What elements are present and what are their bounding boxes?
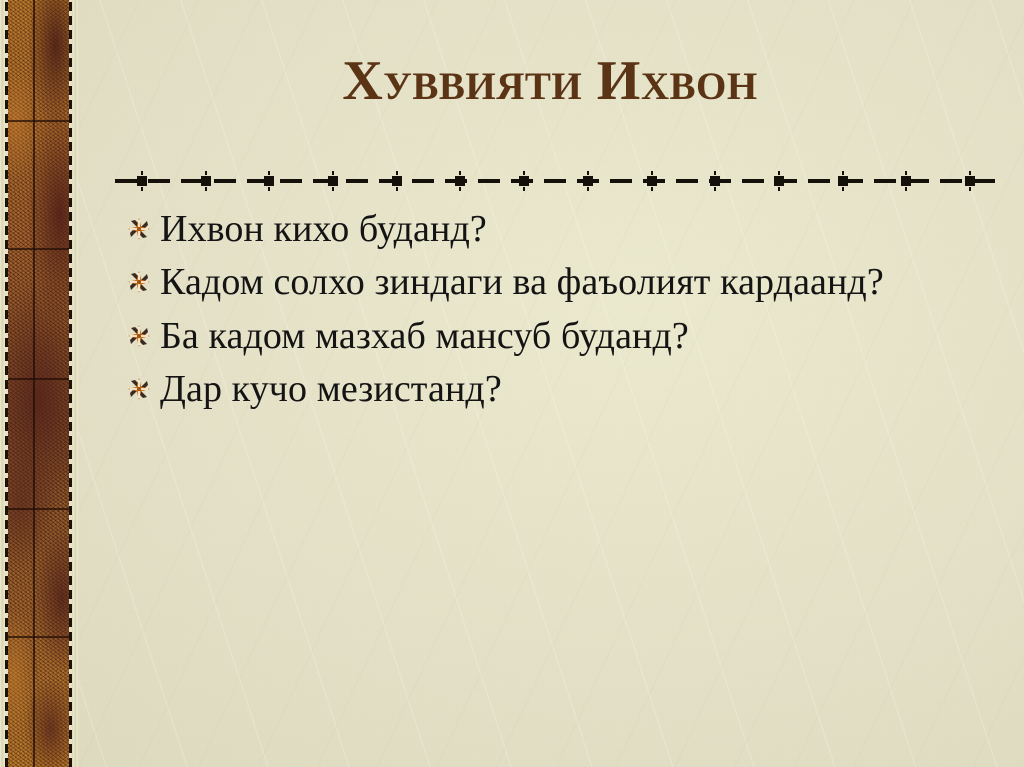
divider-bead <box>838 176 848 186</box>
bullet-text: Дар кучо мезистанд? <box>160 365 928 414</box>
band-grid-line-horizontal <box>8 120 69 122</box>
starburst-bullet-icon <box>128 218 150 240</box>
band-outer-edge-right <box>73 0 78 767</box>
divider-bead <box>264 176 274 186</box>
divider-bead <box>519 176 529 186</box>
divider-bead <box>774 176 784 186</box>
band-grid-line-vertical <box>33 0 35 767</box>
bullet-item: Ба кадом мазхаб мансуб буданд? <box>128 312 928 361</box>
divider-bead <box>328 176 338 186</box>
divider-bead <box>455 176 465 186</box>
slide-canvas: Хуввияти Ихвон Ихвон кихо буданд?Кадом с… <box>0 0 1024 767</box>
bullet-item: Кадом солхо зиндаги ва фаъолият кардаанд… <box>128 258 928 307</box>
bullet-text: Кадом солхо зиндаги ва фаъолият кардаанд… <box>160 258 928 307</box>
starburst-bullet-icon <box>128 378 150 400</box>
bullet-item: Дар кучо мезистанд? <box>128 365 928 414</box>
divider-bead <box>965 176 975 186</box>
band-dashed-rule-right <box>69 0 72 767</box>
band-grid-line-horizontal <box>8 636 69 638</box>
bullet-list: Ихвон кихо буданд?Кадом солхо зиндаги ва… <box>128 205 928 419</box>
side-decoration-band <box>0 0 78 767</box>
band-grid-line-horizontal <box>8 508 69 510</box>
starburst-bullet-icon <box>128 271 150 293</box>
bullet-text: Ба кадом мазхаб мансуб буданд? <box>160 312 928 361</box>
starburst-bullet-icon <box>128 325 150 347</box>
slide-title: Хуввияти Ихвон <box>100 52 1000 111</box>
band-cork-texture <box>8 0 69 767</box>
bullet-item: Ихвон кихо буданд? <box>128 205 928 254</box>
divider-bead <box>392 176 402 186</box>
title-divider <box>115 172 997 190</box>
band-grid-line-horizontal <box>8 248 69 250</box>
divider-bead <box>710 176 720 186</box>
divider-bead <box>647 176 657 186</box>
bullet-text: Ихвон кихо буданд? <box>160 205 928 254</box>
divider-bead <box>583 176 593 186</box>
divider-bead <box>201 176 211 186</box>
divider-bead <box>137 176 147 186</box>
divider-bead <box>901 176 911 186</box>
band-grid-line-horizontal <box>8 378 69 380</box>
divider-bead-group <box>115 172 997 190</box>
